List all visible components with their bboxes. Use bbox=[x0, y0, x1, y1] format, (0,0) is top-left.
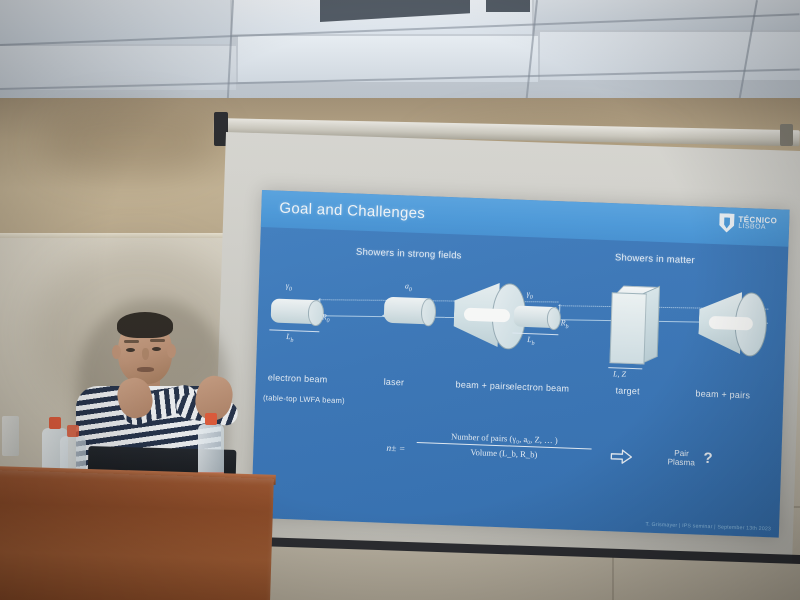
podium bbox=[0, 470, 274, 600]
section-heading-matter: Showers in matter bbox=[615, 252, 695, 266]
slide-footer: T. Grismayer | IPS seminar | September 1… bbox=[645, 522, 771, 533]
tecnico-lisboa-logo: TÉCNICO LISBOA bbox=[719, 213, 777, 234]
photo-scene: Goal and Challenges TÉCNICO LISBOA Showe… bbox=[0, 0, 800, 600]
presenter-eye-right bbox=[152, 347, 161, 351]
beam-pairs-cone-right bbox=[698, 290, 768, 355]
right-block-arrow-icon bbox=[610, 448, 633, 465]
result-line-2: Plasma bbox=[663, 458, 699, 469]
target-box bbox=[609, 285, 660, 365]
caption-laser: laser bbox=[384, 377, 405, 388]
a0-label: a0 bbox=[405, 281, 412, 293]
presenter-mouth bbox=[137, 367, 154, 372]
presenter-ear-right bbox=[167, 344, 176, 358]
presenter-ear-left bbox=[112, 345, 121, 359]
electron-beam-cylinder bbox=[271, 298, 324, 324]
logo-sub: LISBOA bbox=[738, 224, 777, 232]
gamma0-label-left: γ0 bbox=[286, 281, 293, 293]
caption-beam-pairs-left: beam + pairs bbox=[455, 379, 510, 391]
caption-electron-beam-left: electron beam bbox=[268, 372, 328, 384]
presenter-nose bbox=[142, 348, 149, 360]
presenter-hair bbox=[117, 312, 173, 338]
section-heading-strong-fields: Showers in strong fields bbox=[356, 247, 462, 262]
gamma0-label-right: γ0 bbox=[526, 289, 533, 301]
shield-icon bbox=[719, 213, 735, 233]
Lb-label-left: Lb bbox=[286, 332, 294, 344]
Lb-label-right: Lb bbox=[527, 335, 535, 347]
caption-target: target bbox=[615, 385, 640, 396]
question-mark: ? bbox=[703, 450, 713, 467]
presenter-brow-left bbox=[124, 340, 139, 343]
Lb-measure-left bbox=[269, 329, 319, 332]
ceiling bbox=[0, 0, 800, 100]
electron-beam-cylinder-right bbox=[514, 306, 561, 329]
formula-numerator: Number of pairs (γ₀, a₀, Z, … ) bbox=[417, 430, 592, 447]
caption-beam-pairs-right: beam + pairs bbox=[695, 388, 750, 400]
formula-fraction: Number of pairs (γ₀, a₀, Z, … ) Volume (… bbox=[416, 430, 592, 462]
laser-cylinder bbox=[384, 297, 437, 325]
result-pair-plasma: Pair Plasma bbox=[663, 448, 700, 468]
presenter-eye-left bbox=[126, 348, 135, 352]
Rb-label-right: Rb bbox=[561, 318, 569, 330]
presenter-brow-right bbox=[150, 339, 165, 342]
caption-lwfa-subnote: (table-top LWFA beam) bbox=[263, 393, 345, 405]
formula-lhs: n± = bbox=[386, 444, 405, 455]
projected-slide: Goal and Challenges TÉCNICO LISBOA Showe… bbox=[251, 190, 790, 538]
roller-mount-right bbox=[780, 124, 793, 146]
LZ-label: L, Z bbox=[613, 369, 626, 378]
drinking-glass bbox=[2, 416, 19, 456]
R0-label-left: R0 bbox=[322, 312, 330, 324]
caption-electron-beam-right: electron beam bbox=[509, 381, 569, 393]
